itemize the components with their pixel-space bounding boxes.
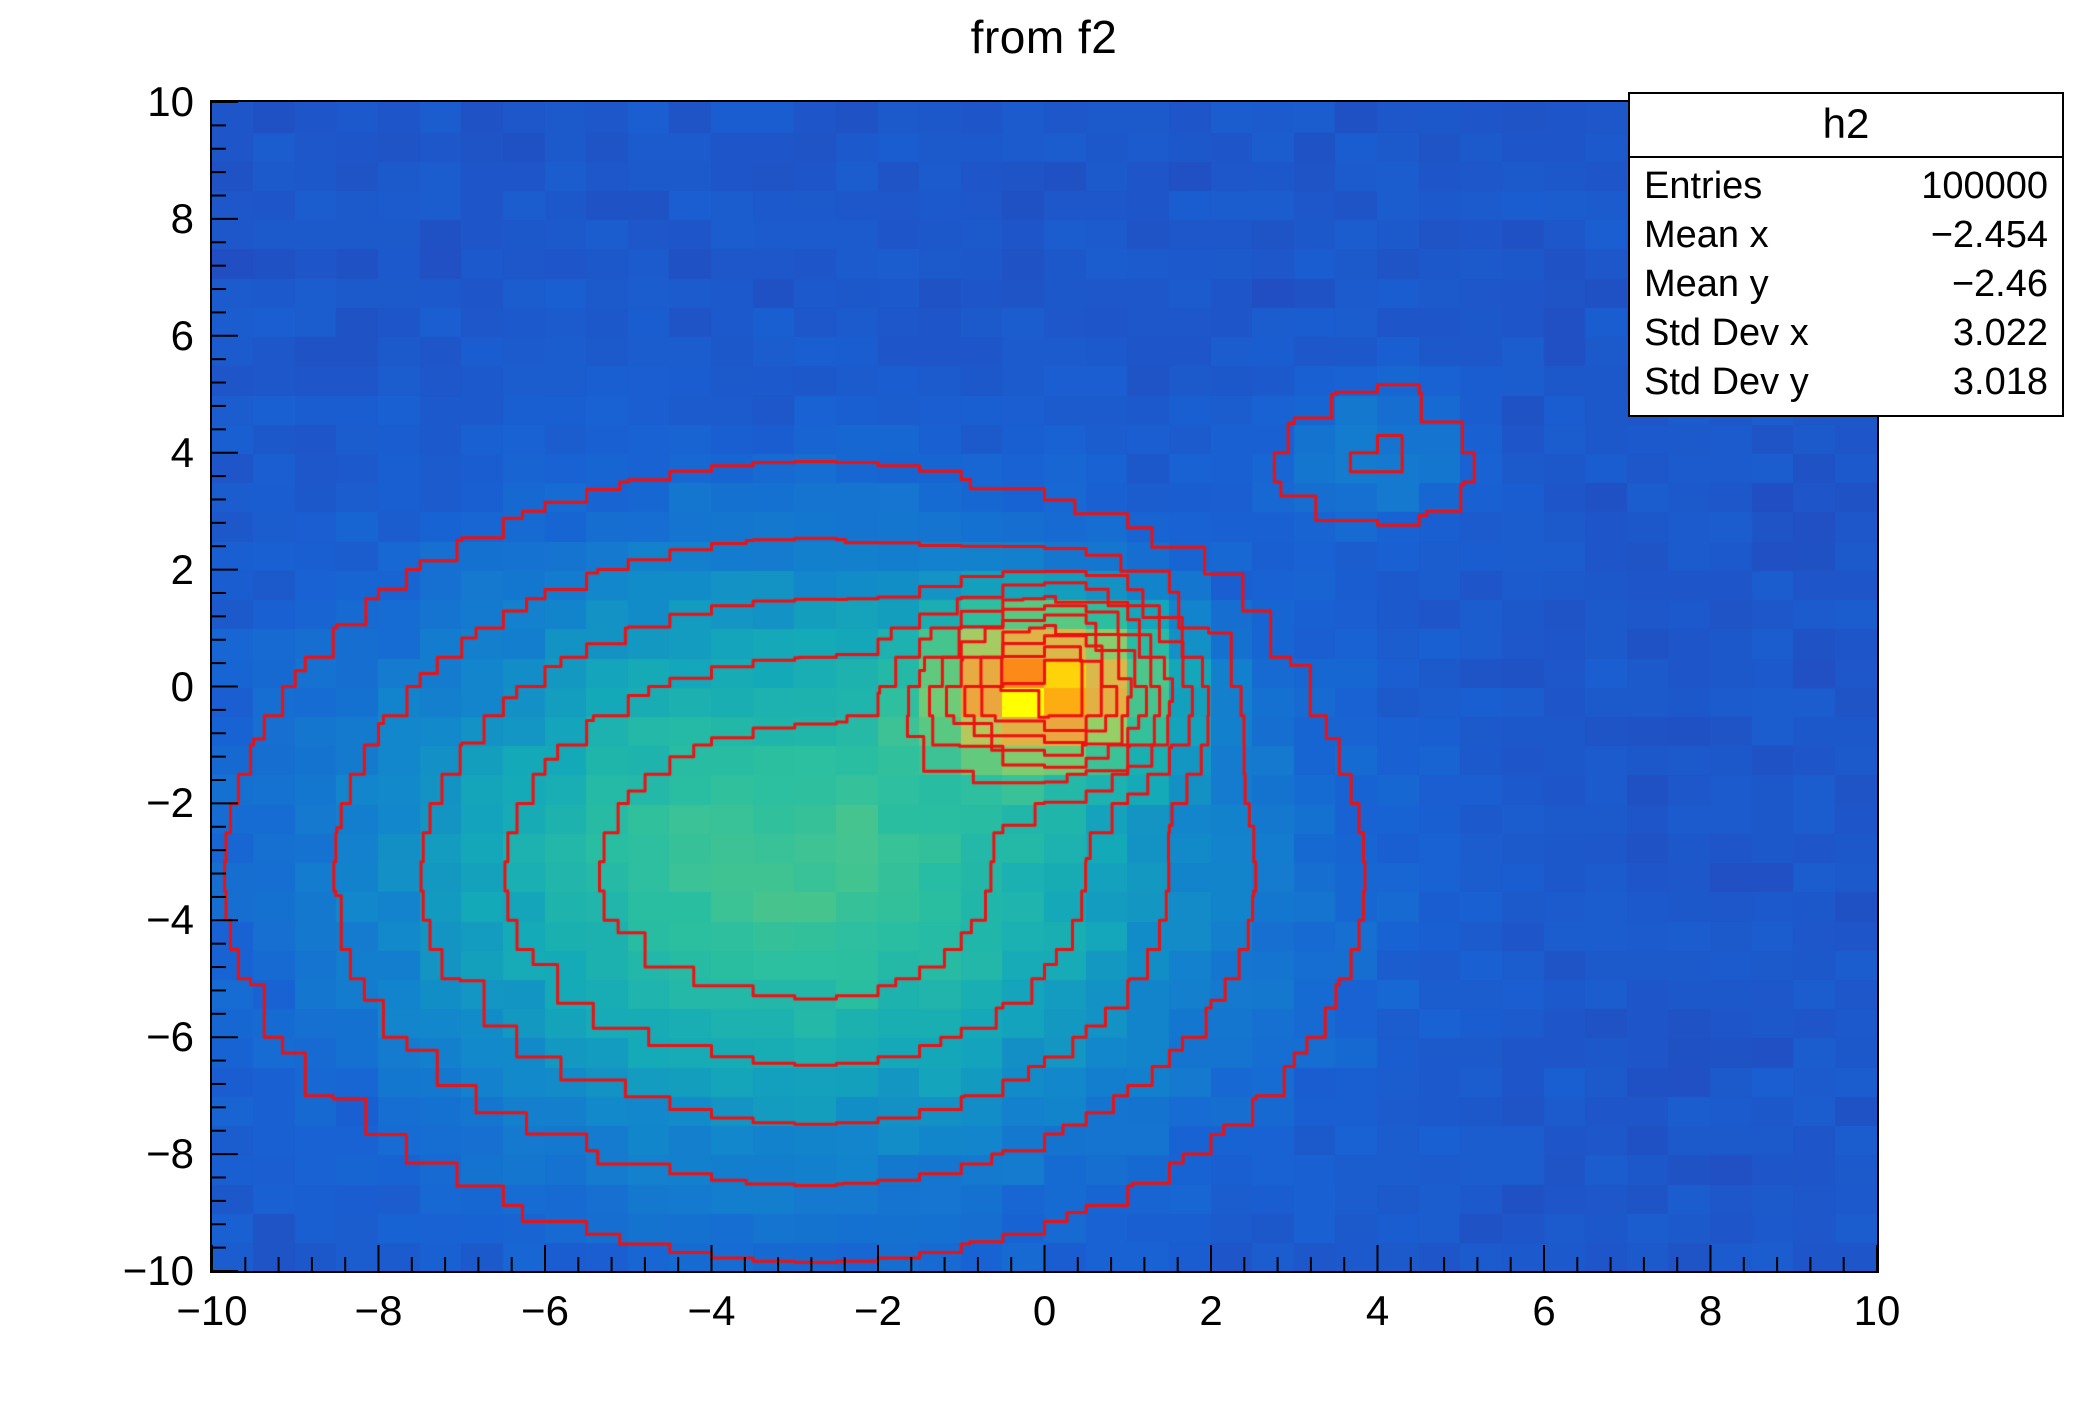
x-tick-label: −2 xyxy=(854,1287,902,1335)
y-tick-label: −2 xyxy=(146,779,194,827)
x-tick-label: −4 xyxy=(688,1287,736,1335)
stats-row-key: Entries xyxy=(1644,165,1762,208)
y-tick-label: 10 xyxy=(147,78,194,126)
stats-row-value: −2.46 xyxy=(1952,263,2048,306)
y-tick-label: 4 xyxy=(171,429,194,477)
y-tick-label: −10 xyxy=(123,1247,194,1295)
canvas-root: from f2 −10−8−6−4−20246810−10−8−6−4−2024… xyxy=(0,0,2088,1416)
x-tick-label: 10 xyxy=(1854,1287,1901,1335)
x-tick-label: 4 xyxy=(1366,1287,1389,1335)
stats-box-title: h2 xyxy=(1630,94,2062,158)
y-tick-label: −4 xyxy=(146,896,194,944)
y-tick-label: −6 xyxy=(146,1013,194,1061)
x-tick-label: −8 xyxy=(355,1287,403,1335)
stats-row-key: Mean y xyxy=(1644,263,1769,306)
x-tick-label: −6 xyxy=(521,1287,569,1335)
y-tick-label: 8 xyxy=(171,195,194,243)
stats-row-value: −2.454 xyxy=(1931,214,2048,257)
stats-box-rows: Entries100000Mean x−2.454Mean y−2.46Std … xyxy=(1630,158,2062,415)
stats-row: Std Dev y3.018 xyxy=(1644,358,2048,407)
stats-row-value: 100000 xyxy=(1921,165,2048,208)
x-tick-label: 8 xyxy=(1699,1287,1722,1335)
y-tick-label: 0 xyxy=(171,663,194,711)
stats-row-key: Mean x xyxy=(1644,214,1769,257)
stats-row: Mean y−2.46 xyxy=(1644,260,2048,309)
stats-row: Mean x−2.454 xyxy=(1644,211,2048,260)
stats-box[interactable]: h2 Entries100000Mean x−2.454Mean y−2.46S… xyxy=(1628,92,2064,417)
stats-row-value: 3.022 xyxy=(1953,312,2048,355)
y-tick-label: 6 xyxy=(171,312,194,360)
stats-row-value: 3.018 xyxy=(1953,361,2048,404)
stats-row: Std Dev x3.022 xyxy=(1644,309,2048,358)
y-tick-label: −8 xyxy=(146,1130,194,1178)
x-tick-label: 2 xyxy=(1199,1287,1222,1335)
x-tick-label: 0 xyxy=(1033,1287,1056,1335)
stats-row-key: Std Dev x xyxy=(1644,312,1809,355)
page-title: from f2 xyxy=(0,10,2088,64)
x-tick-label: 6 xyxy=(1532,1287,1555,1335)
stats-row: Entries100000 xyxy=(1644,162,2048,211)
stats-row-key: Std Dev y xyxy=(1644,361,1809,404)
y-tick-label: 2 xyxy=(171,546,194,594)
